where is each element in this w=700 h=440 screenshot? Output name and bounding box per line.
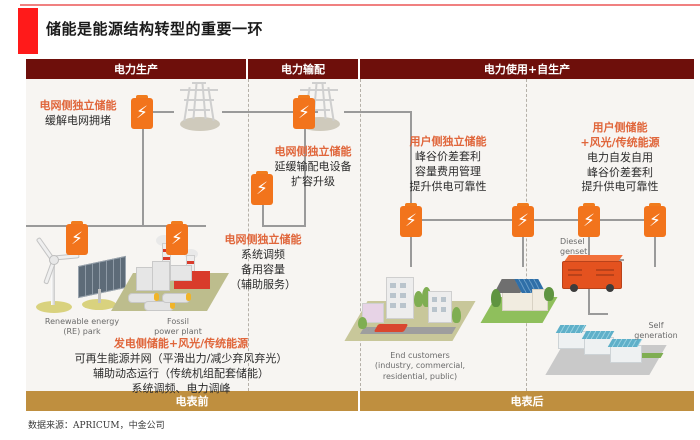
caption-line: Diesel [560,237,616,247]
building-window [441,307,446,312]
tower-leg [183,87,190,121]
plant2-unit [610,345,642,363]
caption-fossil-plant: Fossil power plant [138,317,218,338]
tower-leg [327,87,334,121]
annotation-line: 可再生能源并网（平滑出力/减少弃风弃光） [26,352,336,367]
end-customers-city-illustration [356,267,470,347]
annotation-grid-side-frequency: 电网侧独立储能 系统调频 备用容量 （辅助服务） [208,233,318,292]
annotation-highlight: 用户侧独立储能 [382,135,514,150]
header-band-transmission: 电力输配 [248,59,360,79]
plant-building [152,261,170,291]
battery-house-pv-icon[interactable]: ⚡ [512,203,534,237]
wire-tower1-to-battery1 [152,111,174,113]
diagram-canvas: 电力生产 电力输配 电力使用+自生产 电表前 电表后 ⚡ ⚡ [26,59,694,411]
annotation-highlight: 电网侧独立储能 [208,233,318,248]
annotation-line: 峰谷价差套利 [550,166,690,181]
tower-crossbar [188,109,210,111]
annotation-line: 容量费用管理 [382,165,514,180]
battery-grid-td-icon[interactable]: ⚡ [293,95,315,129]
lightning-bolt-icon: ⚡ [512,206,534,237]
annotation-line: 扩容升级 [254,175,372,190]
city-tree [452,307,461,323]
annotation-line: 提升供电可靠性 [382,180,514,195]
tower-crossbar [184,99,214,101]
caption-line: Self [626,321,686,331]
tower-crossbar [180,89,218,91]
caption-line: generation [626,331,686,341]
annotation-line: 缓解电网拥堵 [26,114,130,129]
lightning-bolt-icon: ⚡ [166,224,188,255]
city-train [374,324,409,332]
genset-vent [568,274,582,276]
solar-panel-surface [78,256,126,298]
annotation-highlight: 发电侧储能+风光/传统能源 [26,337,336,352]
annotation-line: 电力自发自用 [550,151,690,166]
turbine-hub [49,255,59,265]
annotation-line: 峰谷价差套利 [382,150,514,165]
plant2-pv-roof [556,325,587,333]
annotation-line: 备用容量 [208,263,318,278]
lightning-bolt-icon: ⚡ [66,224,88,255]
genset-vent [596,274,614,276]
battery-self-generation-icon[interactable]: ⚡ [644,203,666,237]
city-tree [358,317,367,329]
caption-line: Fossil [138,317,218,327]
tower-crossbar [192,82,206,84]
top-divider-rule [20,4,700,6]
plant-building [170,265,192,281]
building-window [400,283,406,288]
genset-wheel [606,284,614,292]
lightning-bolt-icon: ⚡ [578,206,600,237]
battery-fossil-plant-icon[interactable]: ⚡ [166,221,188,255]
annotation-generation-side-storage: 发电侧储能+风光/传统能源 可再生能源并网（平滑出力/减少弃风弃光） 辅助动态运… [26,337,336,396]
chimney-stripe [163,257,170,260]
caption-line: genset [560,247,616,257]
lightning-bolt-icon: ⚡ [400,206,422,237]
building-window [390,293,396,298]
caption-line: (industry, commercial, [364,361,476,371]
lightning-bolt-icon: ⚡ [644,206,666,237]
annotation-highlight: 电网侧独立储能 [26,99,130,114]
header-band-generation: 电力生产 [26,59,248,79]
building-window [400,303,406,308]
caption-end-customers: End customers (industry, commercial, res… [364,351,476,382]
caption-diesel-genset: Diesel genset [560,237,616,258]
solar-panel-stand [98,289,101,303]
self-generation-house-illustration [488,267,558,329]
annotation-line: 延缓输配电设备 [254,160,372,175]
building-window [441,297,446,302]
battery-end-customers-icon[interactable]: ⚡ [400,203,422,237]
building-window [400,293,406,298]
annotation-grid-side-congestion: 电网侧独立储能 缓解电网拥堵 [26,99,130,129]
building-window [390,303,396,308]
caption-line: power plant [138,327,218,337]
genset-vent [568,269,582,271]
page-title: 储能是能源结构转型的重要一环 [46,18,263,39]
diesel-genset-illustration [562,255,628,297]
wire-transmission-bus [262,225,306,227]
header-band-usage: 电力使用+自生产 [360,59,694,79]
annotation-highlight: 电网侧独立储能 [254,145,372,160]
house-tree [544,287,554,301]
caption-line: Renewable energy [30,317,134,327]
annotation-line: 辅助动态运行（传统机组配套储能） [26,367,336,382]
red-accent-block [18,8,38,54]
annotation-line: 系统调频、电力调峰 [26,382,336,397]
annotation-line: （辅助服务） [208,278,318,293]
lightning-bolt-icon: ⚡ [131,98,153,129]
caption-self-generation: Self generation [626,321,686,342]
transmission-tower-1-illustration [174,81,224,133]
storage-tank-cap [154,293,159,301]
battery-grid-congestion-icon[interactable]: ⚡ [131,95,153,129]
tower-crossbar [300,89,338,91]
wire-battery1-drop [142,117,144,227]
caption-line: residential, public) [364,372,476,382]
tower-leg [207,87,214,121]
building-window [432,297,437,302]
genset-vent [596,269,614,271]
storage-tank-cap [186,293,191,301]
annotation-highlight: 用户侧储能 [550,121,690,136]
wire-selfgen-plant-bus [588,313,608,315]
plant2-pv-roof [582,331,615,339]
building-window [390,283,396,288]
genset-wheel [570,284,578,292]
annotation-user-side-plus-renewables: 用户侧储能 +风光/传统能源 电力自发自用 峰谷价差套利 提升供电可靠性 [550,121,690,195]
annotation-line: 提升供电可靠性 [550,180,690,195]
lightning-bolt-icon: ⚡ [293,98,315,129]
building-window [432,307,437,312]
source-note: 数据来源：APRICUM，中金公司 [28,418,165,431]
annotation-highlight-2: +风光/传统能源 [550,136,690,151]
caption-line: End customers [364,351,476,361]
caption-line: (RE) park [30,327,134,337]
footer-band-after-meter: 电表后 [360,391,694,411]
wire-tower2-to-battery2 [344,111,410,113]
annotation-grid-side-td: 电网侧独立储能 延缓输配电设备 扩容升级 [254,145,372,190]
battery-diesel-icon[interactable]: ⚡ [578,203,600,237]
annotation-line: 系统调频 [208,248,318,263]
annotation-user-side-standalone: 用户侧独立储能 峰谷价差套利 容量费用管理 提升供电可靠性 [382,135,514,194]
tower-crossbar [312,82,326,84]
plant2-unit [558,331,586,349]
caption-renewable-park: Renewable energy (RE) park [30,317,134,338]
house-tree [491,289,501,307]
battery-renewable-park-icon[interactable]: ⚡ [66,221,88,255]
chimney-stripe [187,261,194,264]
